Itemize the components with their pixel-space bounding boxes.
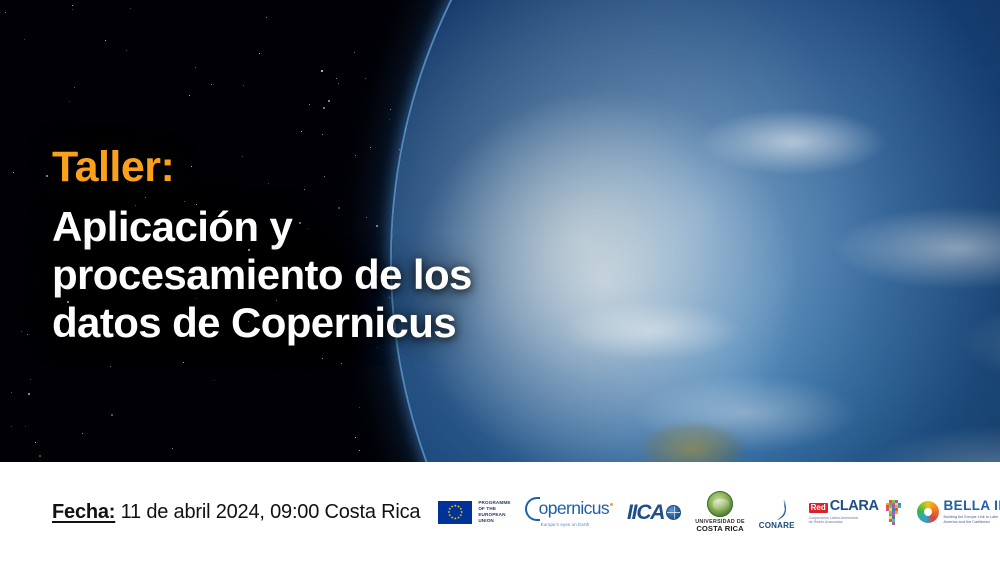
- ucr-text-line-2: COSTA RICA: [696, 525, 743, 533]
- ucr-crest-icon: [707, 491, 733, 517]
- logo-bella-ii: BELLA II Building the Europe Link to Lat…: [917, 499, 1000, 525]
- eu-text-line-2: EUROPEAN UNION: [478, 512, 510, 524]
- sponsor-logo-row: PROGRAMME OF THE EUROPEAN UNION opernicu…: [438, 491, 1000, 533]
- event-title: Aplicación y procesamiento de los datos …: [52, 203, 652, 347]
- event-date: Fecha: 11 de abril 2024, 09:00 Costa Ric…: [52, 501, 420, 524]
- title-line-1: Aplicación y: [52, 203, 652, 251]
- logo-conare: CONARE: [759, 494, 795, 530]
- redclara-wordmark: Red CLARA Cooperación Latino Americana d…: [809, 499, 879, 525]
- bella-wordmark: BELLA II Building the Europe Link to Lat…: [944, 499, 1000, 525]
- redclara-word-clara: CLARA: [830, 499, 879, 514]
- copernicus-dot-icon: [610, 503, 613, 506]
- logo-european-union: PROGRAMME OF THE EUROPEAN UNION: [438, 500, 510, 525]
- footer-bar: Fecha: 11 de abril 2024, 09:00 Costa Ric…: [0, 462, 1000, 562]
- event-kicker: Taller:: [52, 146, 652, 189]
- title-line-2: procesamiento de los: [52, 251, 652, 299]
- redclara-map-icon: [883, 500, 903, 524]
- conare-fan-icon: [762, 494, 792, 520]
- redclara-word-red: Red: [809, 503, 828, 513]
- copernicus-tagline: Europe's eyes on Earth: [541, 522, 613, 527]
- title-line-3: datos de Copernicus: [52, 299, 652, 347]
- logo-copernicus: opernicus Europe's eyes on Earth: [525, 497, 613, 527]
- event-poster: Taller: Aplicación y procesamiento de lo…: [0, 0, 1000, 562]
- copernicus-word: opernicus: [539, 500, 609, 518]
- date-value: 11 de abril 2024, 09:00 Costa Rica: [115, 501, 420, 523]
- hero-banner: Taller: Aplicación y procesamiento de lo…: [0, 0, 1000, 462]
- eu-flag-icon: [438, 501, 472, 524]
- iica-word: IICA: [627, 502, 664, 523]
- redclara-tagline: Cooperación Latino Americana de Redes Av…: [809, 516, 861, 525]
- copernicus-arc-icon: [525, 497, 540, 521]
- headline-block: Taller: Aplicación y procesamiento de lo…: [52, 146, 652, 347]
- logo-iica: IICA: [627, 502, 681, 523]
- bella-circle-icon: [917, 501, 939, 523]
- logo-universidad-de-costa-rica: UNIVERSIDAD DE COSTA RICA: [695, 491, 745, 533]
- iica-globe-icon: [666, 505, 681, 520]
- bella-tagline: Building the Europe Link to Latin Americ…: [944, 515, 1000, 525]
- eu-text-line-1: PROGRAMME OF THE: [478, 500, 510, 512]
- date-label: Fecha:: [52, 501, 115, 523]
- copernicus-wordmark: opernicus: [525, 497, 613, 521]
- redclara-word-row: Red CLARA: [809, 499, 879, 514]
- conare-word: CONARE: [759, 521, 795, 530]
- eu-logo-text: PROGRAMME OF THE EUROPEAN UNION: [478, 500, 510, 525]
- bella-word: BELLA II: [944, 499, 1000, 513]
- logo-redclara: Red CLARA Cooperación Latino Americana d…: [809, 499, 903, 525]
